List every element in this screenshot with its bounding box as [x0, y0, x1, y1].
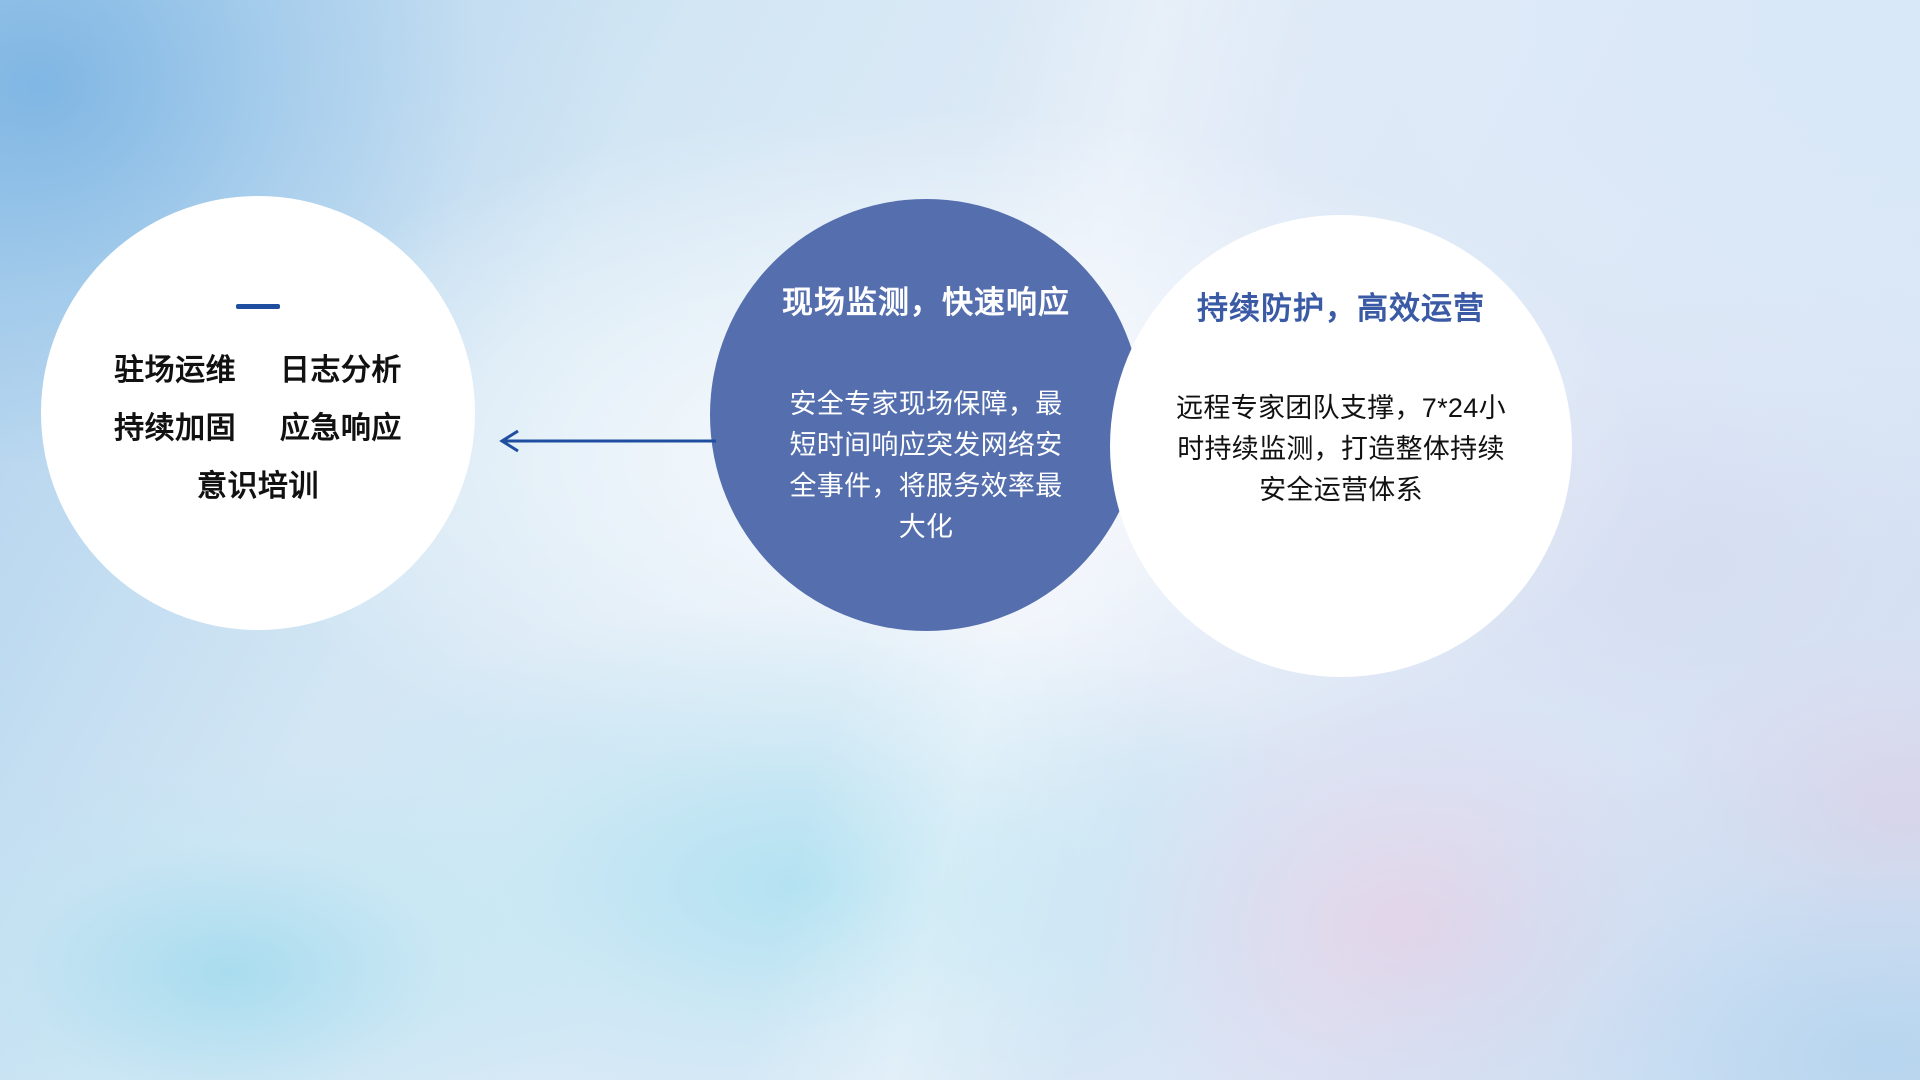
capability-label-awareness-training: 意识培训 [197, 470, 319, 503]
capability-label-emergency-response: 应急响应 [280, 412, 402, 445]
capability-circle-left[interactable]: 驻场运维 日志分析 持续加固 应急响应 意识培训 [41, 196, 475, 630]
slide-canvas: 驻场运维 日志分析 持续加固 应急响应 意识培训 现场监测，快速响应 安全专家现… [0, 0, 1920, 1080]
circle-title-remote: 持续防护，高效运营 [1197, 293, 1485, 324]
circle-body-onsite: 安全专家现场保障，最短时间响应突发网络安全事件，将服务效率最大化 [781, 384, 1071, 548]
arrow-left-icon [488, 420, 718, 462]
capability-row-1: 驻场运维 日志分析 [114, 356, 402, 386]
divider-line [236, 304, 280, 309]
capability-label-onsite-ops: 驻场运维 [114, 354, 236, 387]
capability-row-2: 持续加固 应急响应 [114, 414, 402, 444]
circle-body-remote: 远程专家团队支撑，7*24小时持续监测，打造整体持续安全运营体系 [1171, 388, 1511, 511]
service-circle-onsite[interactable]: 现场监测，快速响应 安全专家现场保障，最短时间响应突发网络安全事件，将服务效率最… [710, 199, 1142, 631]
capability-row-3: 意识培训 [197, 472, 319, 502]
service-circle-remote[interactable]: 持续防护，高效运营 远程专家团队支撑，7*24小时持续监测，打造整体持续安全运营… [1110, 215, 1572, 677]
circle-title-onsite: 现场监测，快速响应 [782, 287, 1070, 318]
capability-label-log-analysis: 日志分析 [280, 354, 402, 387]
capability-label-continuous-hardening: 持续加固 [114, 412, 236, 445]
